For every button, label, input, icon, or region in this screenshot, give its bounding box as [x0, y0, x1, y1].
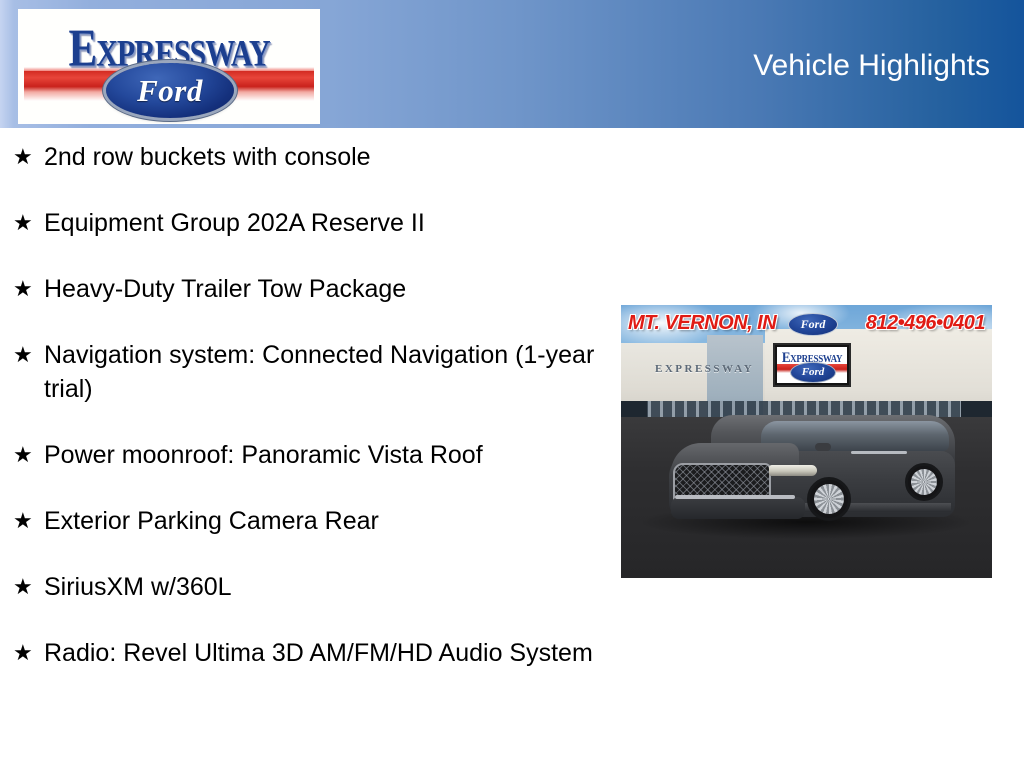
list-item-label: Exterior Parking Camera Rear — [44, 504, 600, 538]
billboard-face: Expressway Ford — [777, 347, 847, 383]
photo-ford-oval-label: Ford — [789, 314, 837, 335]
vehicle-highlights-list: ★ 2nd row buckets with console ★ Equipme… — [0, 140, 600, 702]
star-bullet-icon: ★ — [13, 206, 33, 240]
list-item: ★ 2nd row buckets with console — [0, 140, 600, 174]
list-item: ★ Radio: Revel Ultima 3D AM/FM/HD Audio … — [0, 636, 600, 670]
list-item: ★ Equipment Group 202A Reserve II — [0, 206, 600, 240]
list-item-label: Power moonroof: Panoramic Vista Roof — [44, 438, 600, 472]
billboard-ford-oval-icon: Ford — [790, 362, 836, 383]
vehicle-photo[interactable]: EXPRESSWAY Expressway Ford Ford MT. VERN… — [621, 305, 992, 578]
page-title: Vehicle Highlights — [753, 48, 990, 84]
suv-rear-rim — [911, 469, 937, 495]
list-item: ★ Power moonroof: Panoramic Vista Roof — [0, 438, 600, 472]
suv-vehicle — [665, 415, 955, 533]
list-item-label: SiriusXM w/360L — [44, 570, 600, 604]
ford-oval-label: Ford — [106, 63, 234, 118]
page-header-band: Expressway Ford Vehicle Highlights — [0, 0, 1024, 128]
star-bullet-icon: ★ — [13, 570, 33, 604]
star-bullet-icon: ★ — [13, 272, 33, 306]
suv-headlight — [769, 465, 817, 476]
list-item-label: Heavy-Duty Trailer Tow Package — [44, 272, 600, 306]
suv-front-rim — [814, 484, 844, 514]
suv-front-wheel — [807, 477, 851, 521]
ford-oval-icon: Ford — [106, 63, 234, 118]
list-item: ★ Navigation system: Connected Navigatio… — [0, 338, 600, 406]
dealership-building-sign: EXPRESSWAY — [655, 363, 754, 375]
billboard-ford-label: Ford — [791, 363, 835, 382]
suv-chrome-trim — [851, 451, 907, 454]
photo-city-label: MT. VERNON, IN — [628, 311, 776, 335]
suv-bumper-chrome-bar — [675, 495, 795, 499]
list-item-label: Navigation system: Connected Navigation … — [44, 338, 600, 406]
dealership-billboard: Expressway Ford — [773, 343, 851, 387]
star-bullet-icon: ★ — [13, 636, 33, 670]
suv-side-mirror — [815, 443, 831, 451]
photo-ford-oval-icon: Ford — [788, 313, 838, 336]
suv-rear-wheel — [905, 463, 943, 501]
suv-front-bumper — [671, 497, 805, 519]
list-item-label: 2nd row buckets with console — [44, 140, 600, 174]
star-bullet-icon: ★ — [13, 504, 33, 538]
star-bullet-icon: ★ — [13, 438, 33, 472]
star-bullet-icon: ★ — [13, 338, 33, 372]
photo-phone-label: 812•496•0401 — [866, 311, 985, 335]
list-item-label: Radio: Revel Ultima 3D AM/FM/HD Audio Sy… — [44, 636, 600, 670]
star-bullet-icon: ★ — [13, 140, 33, 174]
list-item: ★ Heavy-Duty Trailer Tow Package — [0, 272, 600, 306]
dealer-logo: Expressway Ford — [18, 9, 320, 124]
dealer-logo-inner: Expressway Ford — [18, 9, 320, 124]
list-item: ★ Exterior Parking Camera Rear — [0, 504, 600, 538]
list-item: ★ SiriusXM w/360L — [0, 570, 600, 604]
list-item-label: Equipment Group 202A Reserve II — [44, 206, 600, 240]
